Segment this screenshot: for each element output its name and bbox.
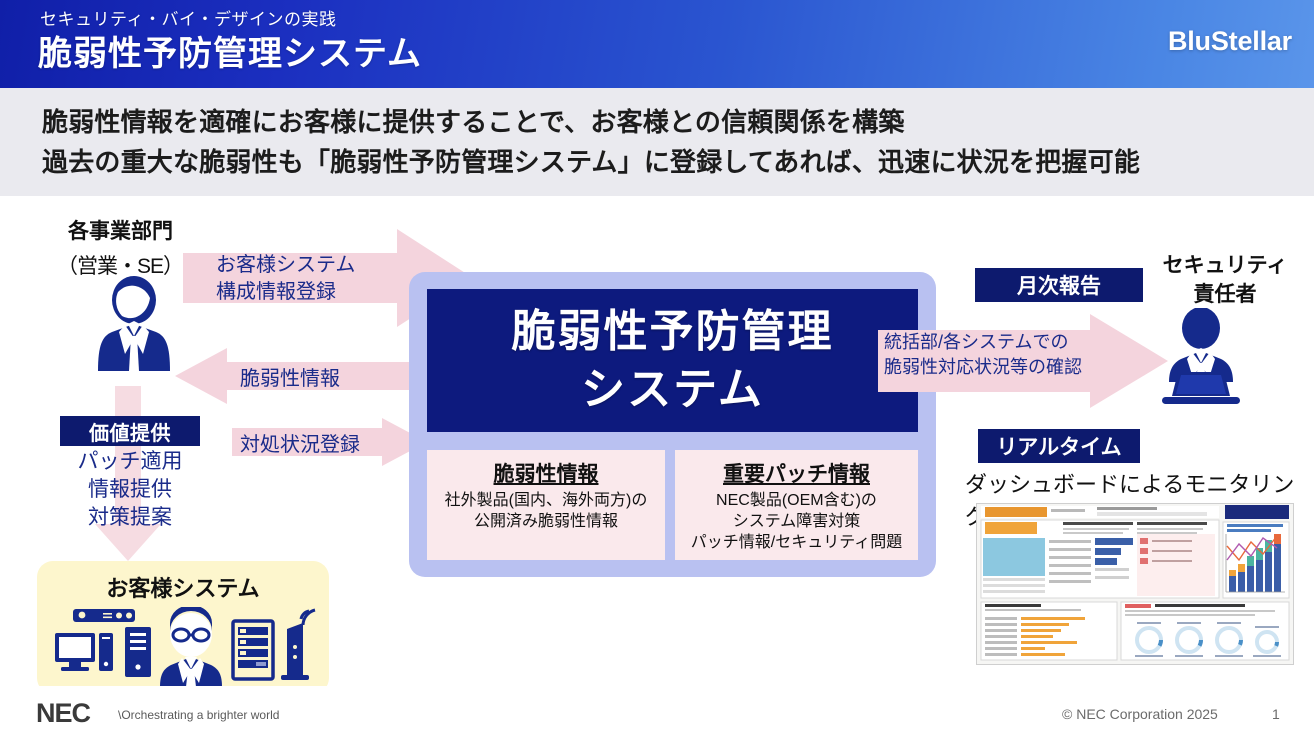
nec-logo: NEC	[36, 698, 90, 729]
flow-label-line: 統括部/各システムでの	[884, 330, 1124, 355]
router-icon	[73, 609, 135, 622]
person-at-laptop-icon	[1152, 308, 1250, 408]
security-owner-line-2: 責任者	[1140, 280, 1310, 309]
value-provision-badge: 価値提供	[60, 416, 200, 446]
department-label-line-1: 各事業部門	[68, 215, 173, 245]
flow-label-register-status: 対処状況登録	[240, 428, 415, 457]
info-box-heading: 脆弱性情報	[427, 458, 665, 488]
subtitle-line-2: 過去の重大な脆弱性も「脆弱性予防管理システム」に登録してあれば、迅速に状況を把握…	[42, 142, 1140, 179]
core-title-line-2: システム	[427, 361, 918, 419]
security-owner-line-1: セキュリティ	[1140, 251, 1310, 280]
info-body-line: NEC製品(OEM含む)の	[675, 490, 918, 511]
value-item: 情報提供	[55, 476, 205, 504]
desktop-tower-icon	[99, 633, 113, 671]
customer-system-icon-group	[51, 607, 317, 687]
slide-footer: NEC \Orchestrating a brighter world © NE…	[0, 686, 1314, 736]
info-body-line: 社外製品(国内、海外両方)の	[427, 490, 665, 511]
flow-label-line: 構成情報登録	[216, 279, 416, 306]
business-person-icon	[82, 276, 186, 371]
monitor-icon	[55, 633, 95, 671]
info-box-body: NEC製品(OEM含む)の システム障害対策 パッチ情報/セキュリティ問題	[675, 490, 918, 553]
nec-tagline: \Orchestrating a brighter world	[118, 708, 279, 722]
page-title: 脆弱性予防管理システム	[38, 26, 422, 75]
engineer-icon	[160, 607, 222, 687]
page-number: 1	[1272, 706, 1280, 722]
core-system-box: 脆弱性予防管理 システム	[427, 289, 918, 432]
value-provision-items: パッチ適用 情報提供 対策提案	[55, 448, 205, 532]
flow-label-line: 脆弱性対応状況等の確認	[884, 355, 1124, 380]
slide-root: セキュリティ・バイ・デザインの実践 脆弱性予防管理システム BluStellar…	[0, 0, 1314, 736]
customer-system-card: お客様システム	[37, 561, 329, 694]
info-box-heading: 重要パッチ情報	[675, 458, 918, 488]
dashboard-screenshot[interactable]	[976, 503, 1294, 665]
info-box-vulnerability: 脆弱性情報 社外製品(国内、海外両方)の 公開済み脆弱性情報	[427, 450, 665, 560]
core-system-container: 脆弱性予防管理 システム 脆弱性情報 社外製品(国内、海外両方)の 公開済み脆弱…	[409, 272, 936, 577]
badge-monthly-report: 月次報告	[975, 268, 1143, 302]
info-box-body: 社外製品(国内、海外両方)の 公開済み脆弱性情報	[427, 490, 665, 532]
security-owner-label: セキュリティ 責任者	[1140, 251, 1310, 309]
wireless-ap-icon	[281, 610, 315, 680]
subtitle-band: 脆弱性情報を適確にお客様に提供することで、お客様との信頼関係を構築 過去の重大な…	[0, 88, 1314, 196]
flow-label-status-confirmation: 統括部/各システムでの 脆弱性対応状況等の確認	[884, 330, 1124, 380]
flow-label-line: お客様システム	[216, 252, 416, 279]
info-body-line: パッチ情報/セキュリティ問題	[675, 532, 918, 553]
subtitle-line-1: 脆弱性情報を適確にお客様に提供することで、お客様との信頼関係を構築	[42, 102, 905, 139]
slide-header: セキュリティ・バイ・デザインの実践 脆弱性予防管理システム BluStellar	[0, 0, 1314, 88]
value-item: 対策提案	[55, 504, 205, 532]
copyright-text: © NEC Corporation 2025	[1062, 706, 1218, 722]
info-box-patch: 重要パッチ情報 NEC製品(OEM含む)の システム障害対策 パッチ情報/セキュ…	[675, 450, 918, 560]
customer-system-title: お客様システム	[37, 571, 329, 603]
core-system-title: 脆弱性予防管理 システム	[427, 303, 918, 419]
diagram-stage: 各事業部門 （営業・SE） 価値提供 パッチ適用 情報提供 対策提案 お客様シス…	[0, 196, 1314, 686]
flow-label-register-config: お客様システム 構成情報登録	[216, 252, 416, 306]
server-rack-icon	[233, 621, 273, 679]
desktop-tower-icon	[125, 627, 151, 677]
info-body-line: システム障害対策	[675, 511, 918, 532]
core-title-line-1: 脆弱性予防管理	[427, 303, 918, 361]
flow-label-vulnerability-info: 脆弱性情報	[240, 362, 410, 391]
info-body-line: 公開済み脆弱性情報	[427, 511, 665, 532]
value-item: パッチ適用	[55, 448, 205, 476]
badge-realtime: リアルタイム	[978, 429, 1140, 463]
brand-logo-blustellar: BluStellar	[1168, 26, 1292, 57]
